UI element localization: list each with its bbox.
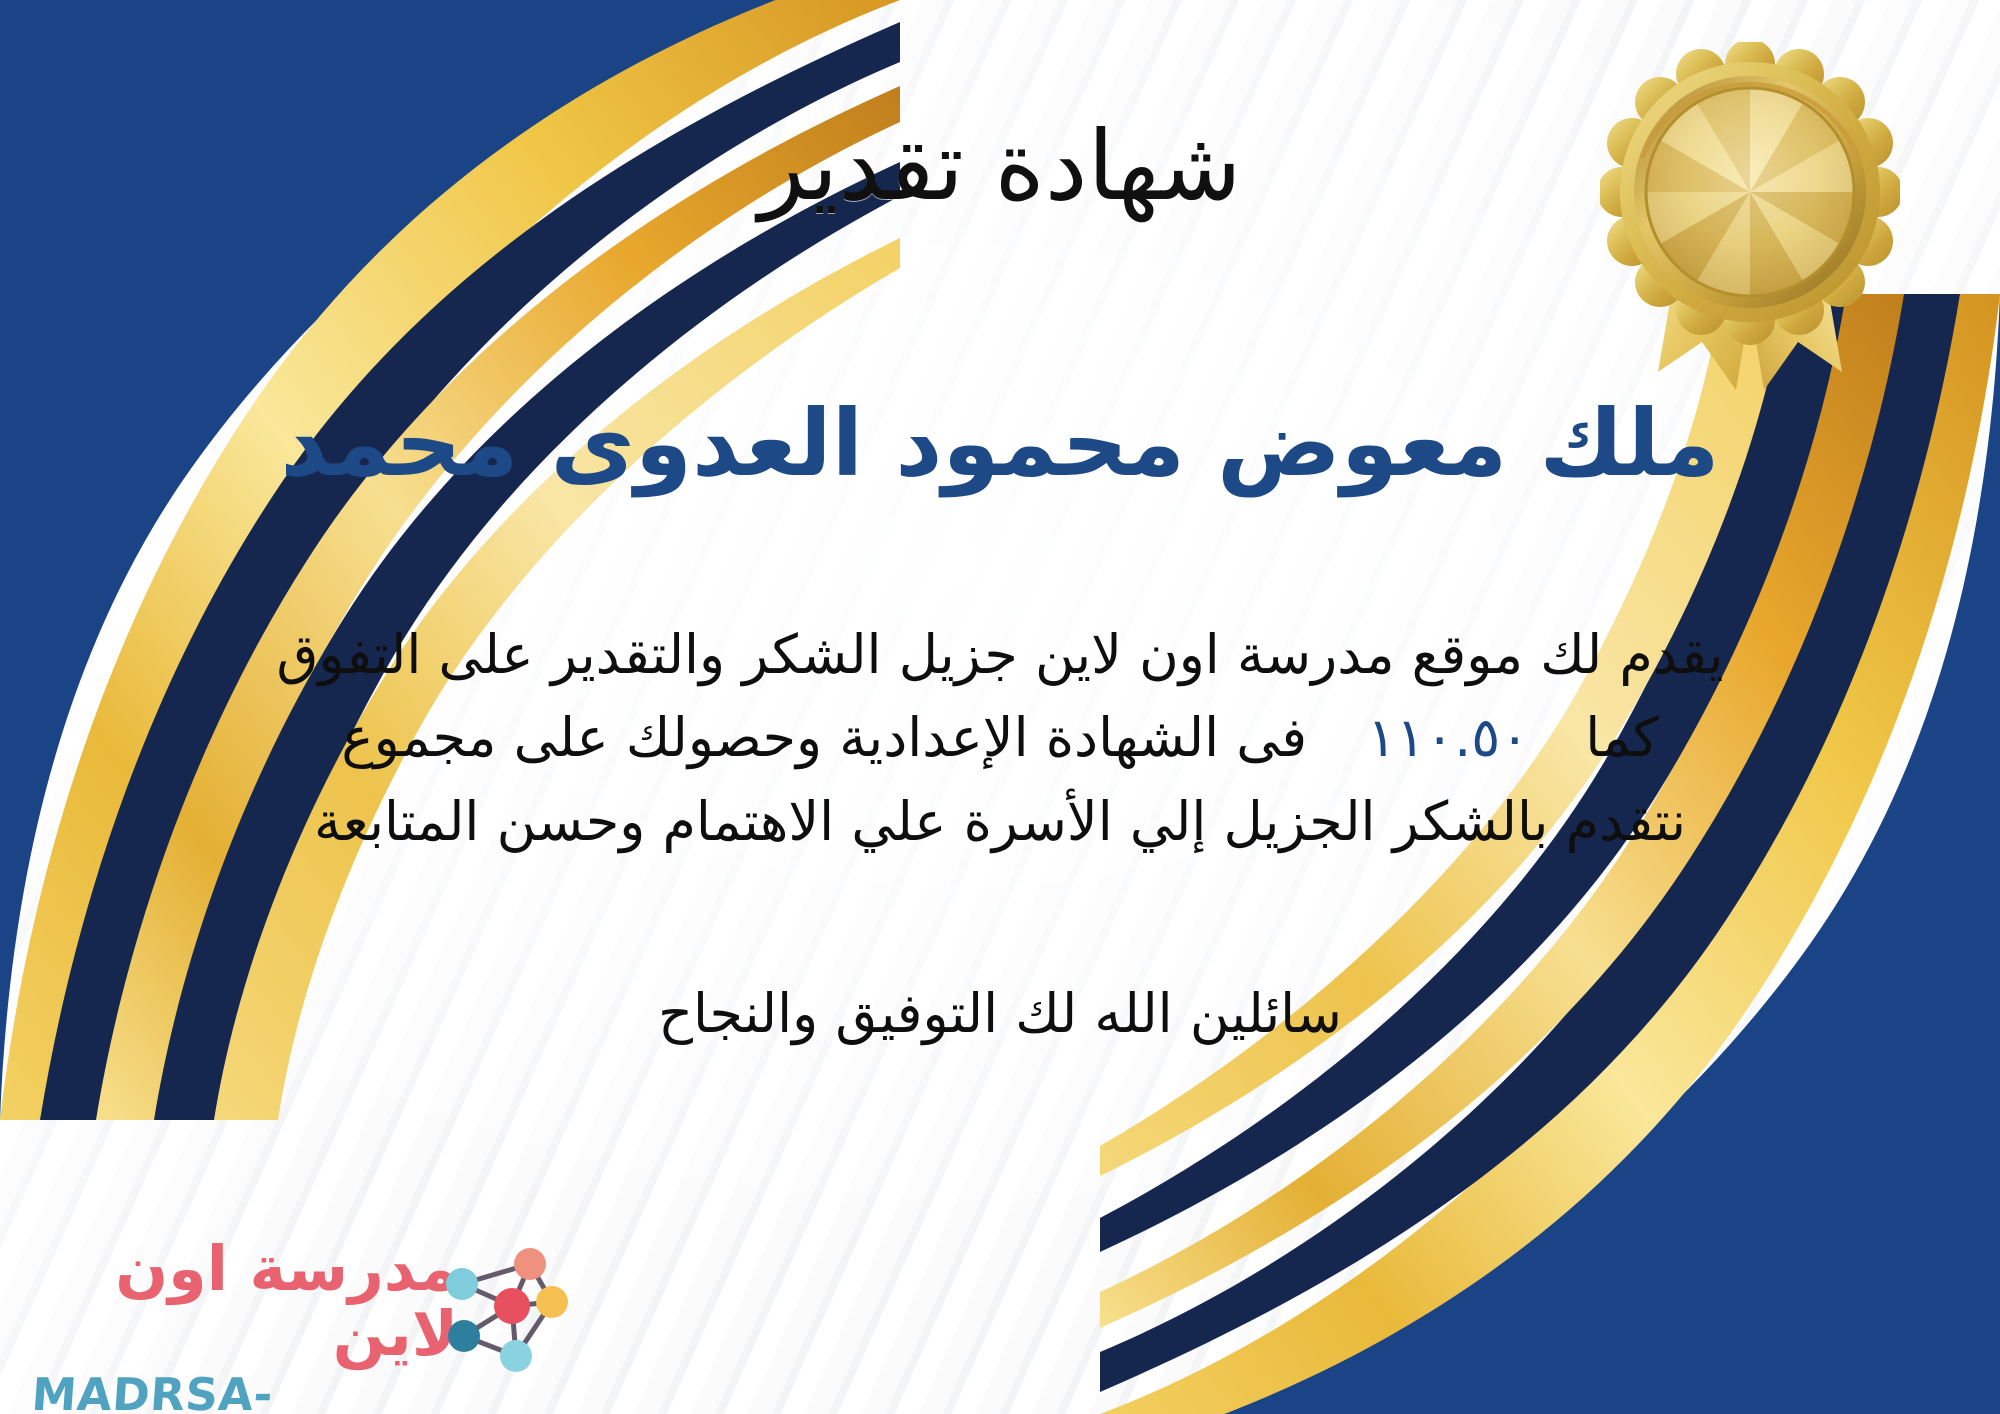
certificate-canvas: شهادة تقدير ملك معوض محمود العدوى محمد ي… — [0, 0, 2000, 1414]
site-logo[interactable]: مدرسة اون لاين MADRSA-ONLINE.COM — [22, 1226, 562, 1396]
body-line-2: كما ١١٠.٥٠ فى الشهادة الإعدادية وحصولك ع… — [60, 696, 1940, 780]
certificate-content: شهادة تقدير ملك معوض محمود العدوى محمد ي… — [0, 0, 2000, 1414]
body-line-2-prefix: فى الشهادة الإعدادية وحصولك على مجموع — [341, 696, 1307, 780]
student-name: ملك معوض محمود العدوى محمد — [160, 396, 1839, 493]
certificate-body: يقدم لك موقع مدرسة اون لاين جزيل الشكر و… — [60, 613, 1940, 864]
logo-arabic-text: مدرسة اون لاين — [30, 1236, 458, 1366]
body-line-1: يقدم لك موقع مدرسة اون لاين جزيل الشكر و… — [60, 613, 1940, 697]
closing-wish-line: سائلين الله لك التوفيق والنجاح — [658, 982, 1342, 1045]
certificate-title: شهادة تقدير — [759, 118, 1242, 214]
total-score-value: ١١٠.٥٠ — [1307, 696, 1585, 780]
logo-english-text: MADRSA-ONLINE.COM — [26, 1368, 461, 1414]
body-line-3: نتقدم بالشكر الجزيل إلي الأسرة علي الاهت… — [60, 780, 1940, 864]
logo-text-block: مدرسة اون لاين MADRSA-ONLINE.COM — [30, 1236, 458, 1414]
logo-row: مدرسة اون لاين MADRSA-ONLINE.COM — [22, 1226, 562, 1396]
network-nodes-icon — [438, 1240, 570, 1380]
body-line-2-suffix: كما — [1585, 696, 1658, 780]
